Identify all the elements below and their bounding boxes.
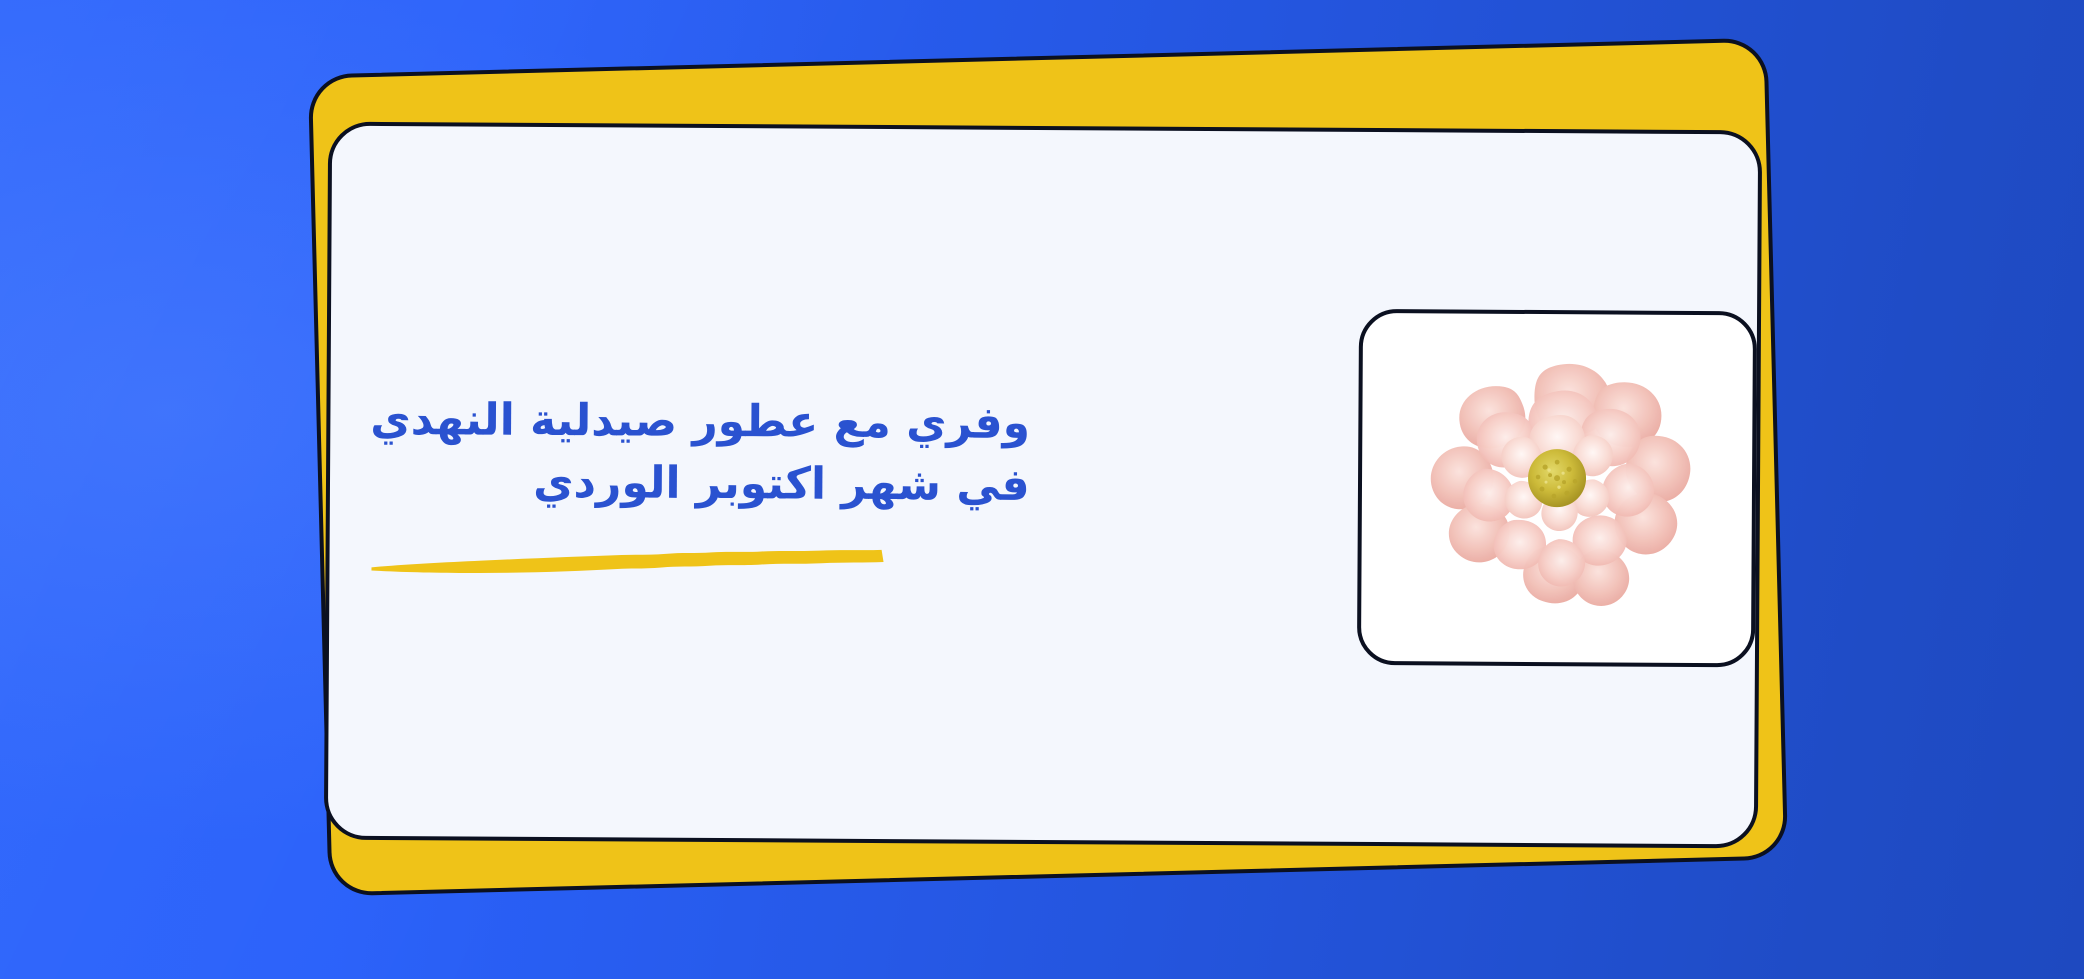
front-card-white: وفري مع عطور صيدلية النهدي في شهر اكتوبر…	[324, 122, 1762, 849]
headline-line-1: وفري مع عطور صيدلية النهدي	[370, 388, 1030, 454]
flower-icon	[1406, 342, 1708, 634]
stacked-cards: وفري مع عطور صيدلية النهدي في شهر اكتوبر…	[0, 0, 2084, 979]
promo-banner: وفري مع عطور صيدلية النهدي في شهر اكتوبر…	[0, 0, 2084, 979]
page-title: وفري مع عطور صيدلية النهدي في شهر اكتوبر…	[370, 388, 1030, 517]
brush-underline-icon	[369, 539, 889, 576]
headline-column: وفري مع عطور صيدلية النهدي في شهر اكتوبر…	[329, 388, 1250, 579]
headline-line-2: في شهر اكتوبر الوردي	[370, 451, 1030, 517]
product-image-frame	[1357, 309, 1757, 667]
